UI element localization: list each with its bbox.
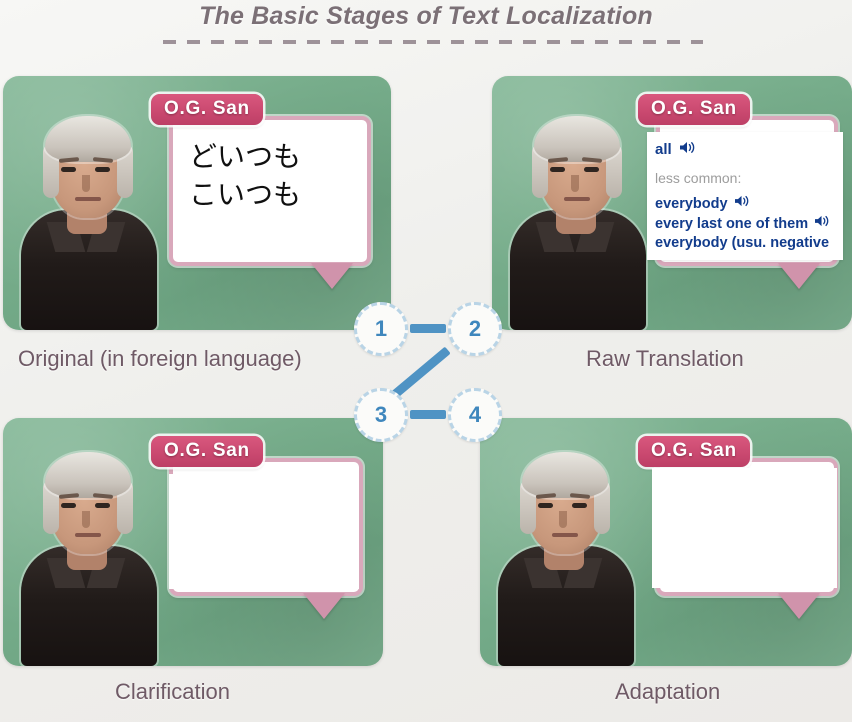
panel-clarification: O.G. San bbox=[3, 418, 383, 666]
bubble-tail-3 bbox=[303, 593, 345, 619]
presenter-photo-4 bbox=[494, 418, 636, 666]
connector-3-2 bbox=[391, 347, 450, 399]
title-dashed-rule bbox=[163, 40, 703, 44]
dictionary-entry-text: everybody bbox=[655, 195, 728, 214]
page-title: The Basic Stages of Text Localization bbox=[0, 2, 852, 31]
bubble-tail-4 bbox=[778, 593, 820, 619]
presenter-photo-1 bbox=[17, 76, 159, 330]
presenter-photo-3 bbox=[17, 418, 159, 666]
dictionary-primary-entry: all bbox=[655, 140, 837, 159]
diagram-node-4[interactable]: 4 bbox=[448, 388, 502, 442]
caption-original: Original (in foreign language) bbox=[18, 346, 302, 372]
bubble-tail-2 bbox=[778, 263, 820, 289]
connector-3-4 bbox=[410, 410, 446, 419]
name-tag-4: O.G. San bbox=[638, 436, 750, 467]
caption-clarification: Clarification bbox=[115, 679, 230, 705]
presenter-photo-2 bbox=[506, 76, 648, 330]
panel-original: どいつも こいつも O.G. San bbox=[3, 76, 391, 330]
panel-raw-translation: O.G. San all less common: everybody bbox=[492, 76, 852, 330]
bubble-text-original: どいつも こいつも bbox=[189, 138, 301, 213]
slide-canvas: The Basic Stages of Text Localization どい… bbox=[0, 0, 852, 722]
speech-bubble-1: どいつも こいつも O.G. San bbox=[151, 94, 371, 284]
blank-text-overlay-3 bbox=[169, 474, 359, 589]
diagram-node-3[interactable]: 3 bbox=[354, 388, 408, 442]
dictionary-primary-text: all bbox=[655, 141, 672, 158]
dictionary-entry[interactable]: everybody bbox=[655, 194, 837, 214]
dictionary-entry-text: every last one of them bbox=[655, 215, 808, 234]
connector-1-2 bbox=[410, 324, 446, 333]
name-tag-1: O.G. San bbox=[151, 94, 263, 125]
dictionary-entry-text: everybody (usu. negative bbox=[655, 234, 829, 253]
diagram-node-2[interactable]: 2 bbox=[448, 302, 502, 356]
caption-adaptation: Adaptation bbox=[615, 679, 720, 705]
name-tag-2: O.G. San bbox=[638, 94, 750, 125]
name-tag-3: O.G. San bbox=[151, 436, 263, 467]
dictionary-less-common-label: less common: bbox=[655, 170, 837, 186]
stage-flow-diagram: 1 2 3 4 bbox=[348, 296, 516, 442]
dictionary-popup[interactable]: all less common: everybody bbox=[647, 132, 843, 260]
speaker-icon[interactable] bbox=[814, 214, 830, 234]
speaker-icon[interactable] bbox=[734, 194, 750, 214]
bubble-box-1: どいつも こいつも bbox=[169, 116, 371, 266]
panel-adaptation: O.G. San bbox=[480, 418, 852, 666]
speaker-icon[interactable] bbox=[679, 140, 696, 159]
diagram-node-1[interactable]: 1 bbox=[354, 302, 408, 356]
dictionary-entry[interactable]: every last one of them bbox=[655, 214, 837, 234]
title-area: The Basic Stages of Text Localization bbox=[0, 0, 852, 62]
caption-raw-translation: Raw Translation bbox=[586, 346, 744, 372]
bubble-tail-1 bbox=[311, 263, 353, 289]
blank-text-overlay-4 bbox=[652, 468, 837, 588]
dictionary-entry[interactable]: everybody (usu. negative bbox=[655, 234, 837, 253]
